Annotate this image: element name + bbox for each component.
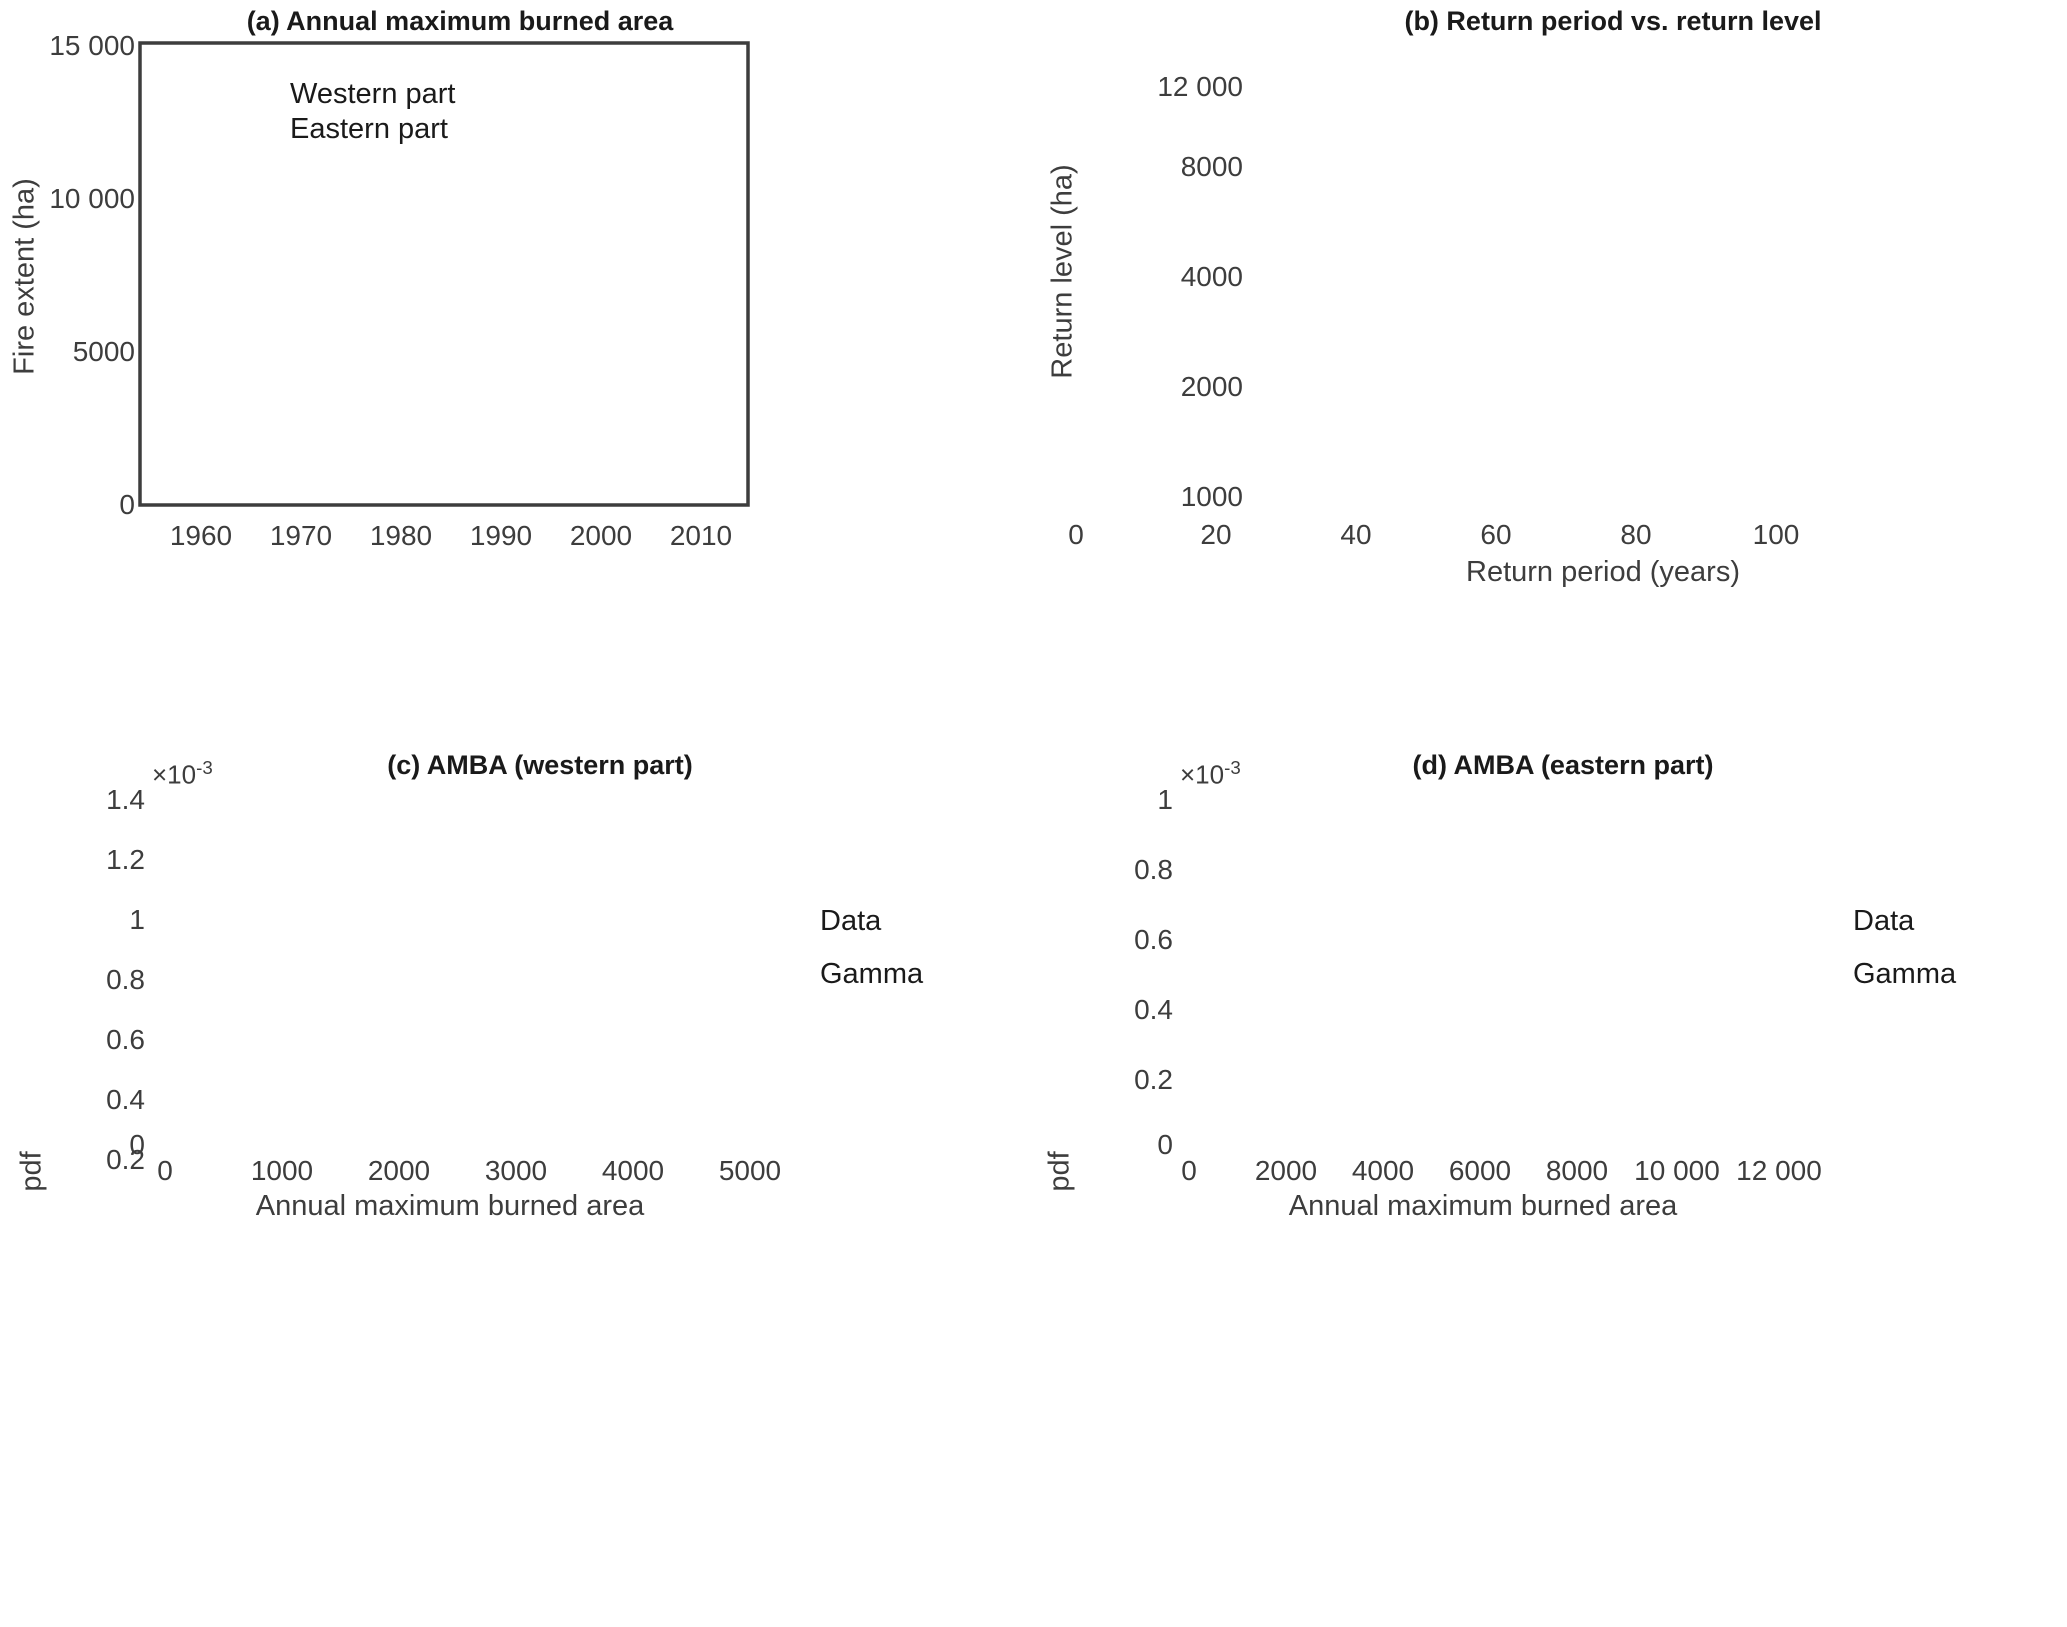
panel-d-legend-label-0: Data <box>1853 905 1914 938</box>
panel-d-plot <box>1033 740 2067 1567</box>
panel-a: (a) Annual maximum burned area Fire exte… <box>0 0 1033 620</box>
panel-a-plot <box>0 0 1033 620</box>
panel-c-legend-label-0: Data <box>820 905 881 938</box>
panel-d-legend-label-1: Gamma <box>1853 958 1956 991</box>
panel-c-plot <box>0 740 1033 1567</box>
panel-c: (c) AMBA (western part) ×10-3 pdf Annual… <box>0 800 1033 1627</box>
panel-a-legend-label-0: Western part <box>290 78 455 111</box>
panel-a-legend-label-1: Eastern part <box>290 113 448 146</box>
figure-root: (a) Annual maximum burned area Fire exte… <box>0 0 2067 1627</box>
panel-d: (d) AMBA (eastern part) ×10-3 pdf Annual… <box>1033 800 2067 1627</box>
panel-b-plot <box>1033 0 2067 620</box>
panel-b: (b) Return period vs. return level Retur… <box>1033 0 2067 620</box>
panel-c-legend-label-1: Gamma <box>820 958 923 991</box>
